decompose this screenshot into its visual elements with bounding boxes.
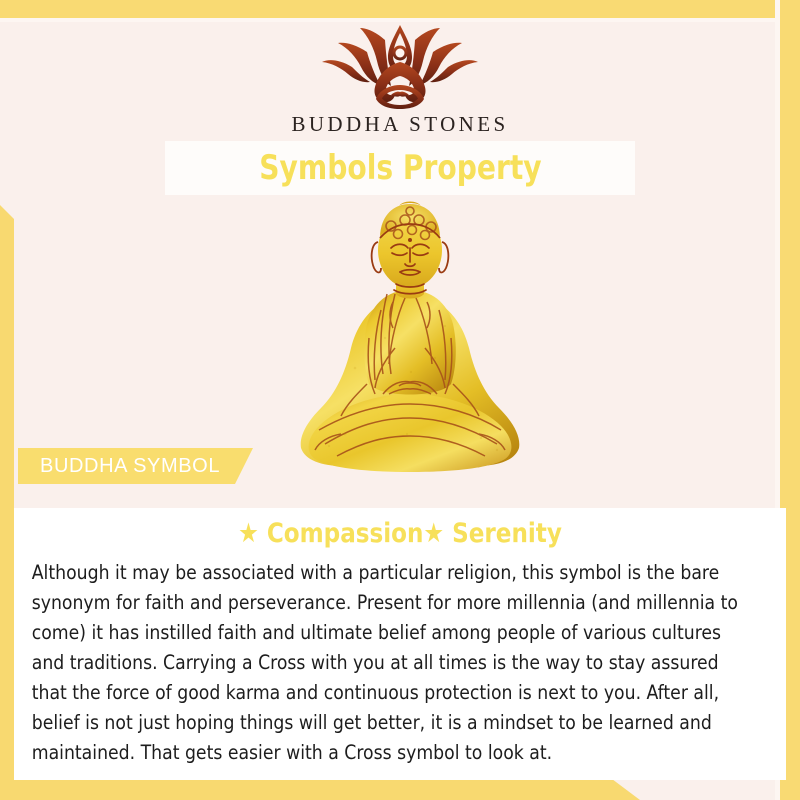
lotus-meditation-icon [315,22,485,110]
page-title: Symbols Property [259,148,541,188]
frame-band-left [0,205,14,800]
title-banner: Symbols Property [165,141,635,195]
buddha-symbol-tag-label: BUDDHA SYMBOL [18,455,220,478]
content-paragraph: Although it may be associated with a par… [14,558,774,768]
content-subtitle: ★ Compassion★ Serenity [33,518,766,549]
buddha-symbol-tag: BUDDHA SYMBOL [18,448,253,484]
infographic-page: BUDDHA STONES Symbols Property [0,0,800,800]
buddha-statue-image [285,198,535,488]
frame-band-top [0,0,800,18]
seated-buddha-statue-icon [285,198,535,488]
brand-wordmark: BUDDHA STONES [0,112,800,137]
content-card: ★ Compassion★ Serenity Although it may b… [14,508,786,780]
brand-header: BUDDHA STONES [0,22,800,137]
